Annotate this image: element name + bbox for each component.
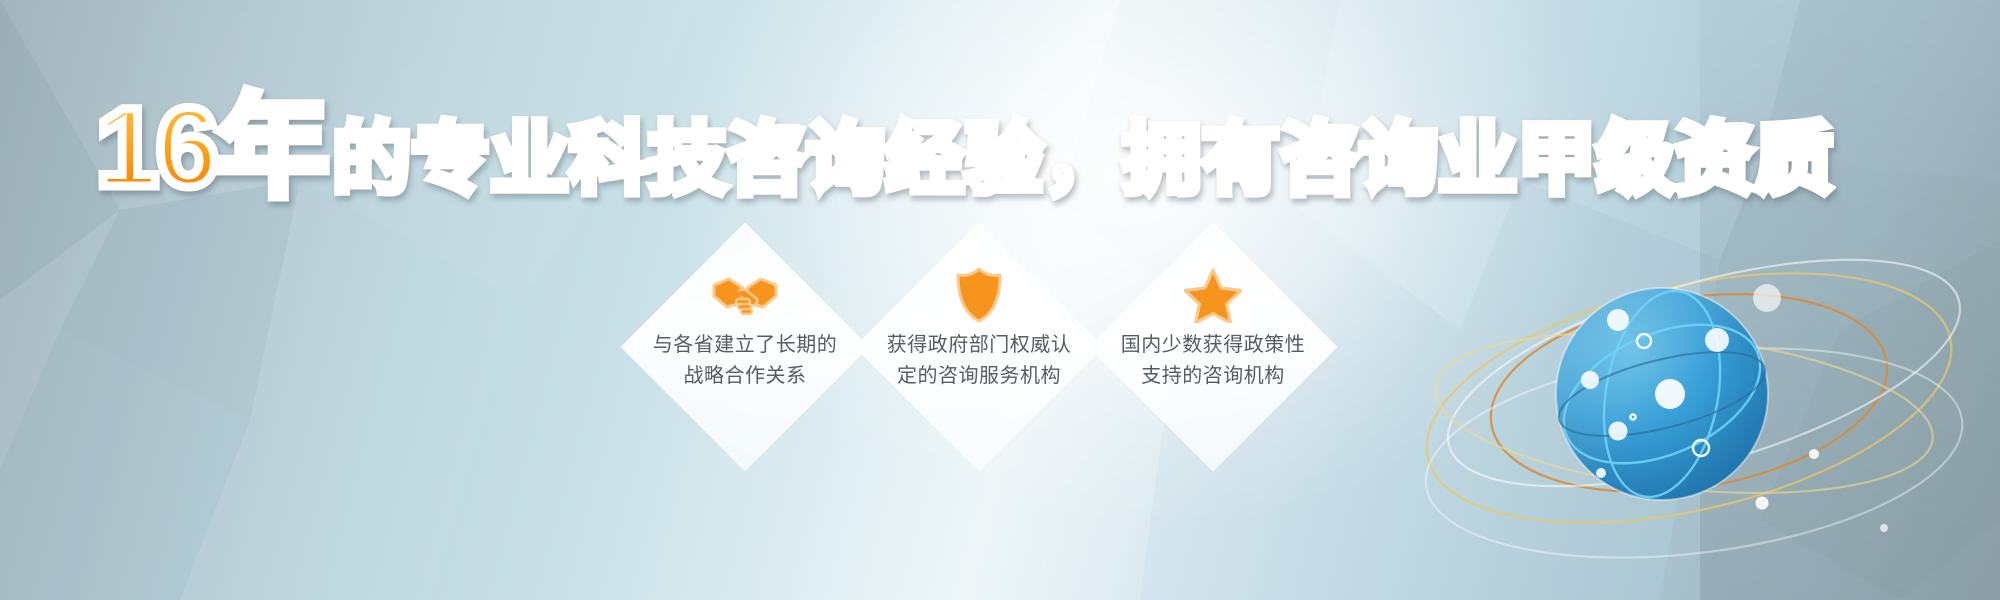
- feature-card[interactable]: 与各省建立了长期的 战略合作关系: [620, 222, 870, 472]
- feature-card[interactable]: 国内少数获得政策性 支持的咨询机构: [1088, 222, 1338, 472]
- feature-card[interactable]: 获得政府部门权威认 定的咨询服务机构: [854, 222, 1104, 472]
- star-icon: [1184, 268, 1242, 322]
- feature-card-text: 与各省建立了长期的 战略合作关系: [638, 330, 853, 392]
- headline: 16年 的专业科技咨询经验，拥有咨询业甲级资质: [96, 92, 1834, 204]
- feature-line-1: 国内少数获得政策性: [1106, 330, 1321, 361]
- handshake-icon: [711, 268, 779, 322]
- shield-icon: [954, 268, 1004, 322]
- promo-banner: 16年 的专业科技咨询经验，拥有咨询业甲级资质: [0, 0, 2000, 600]
- headline-years: 16年: [96, 92, 327, 204]
- feature-line-2: 定的咨询服务机构: [872, 361, 1087, 392]
- feature-line-2: 战略合作关系: [638, 361, 853, 392]
- feature-card-text: 获得政府部门权威认 定的咨询服务机构: [872, 330, 1087, 392]
- network-globe-graphic: [1414, 198, 1974, 588]
- headline-text: 的专业科技咨询经验，拥有咨询业甲级资质: [333, 120, 1834, 198]
- feature-card-text: 国内少数获得政策性 支持的咨询机构: [1106, 330, 1321, 392]
- feature-card-list: 与各省建立了长期的 战略合作关系 获得政府部门权威认 定的咨询服务机构: [620, 222, 1322, 472]
- feature-line-1: 获得政府部门权威认: [872, 330, 1087, 361]
- feature-line-2: 支持的咨询机构: [1106, 361, 1321, 392]
- feature-line-1: 与各省建立了长期的: [638, 330, 853, 361]
